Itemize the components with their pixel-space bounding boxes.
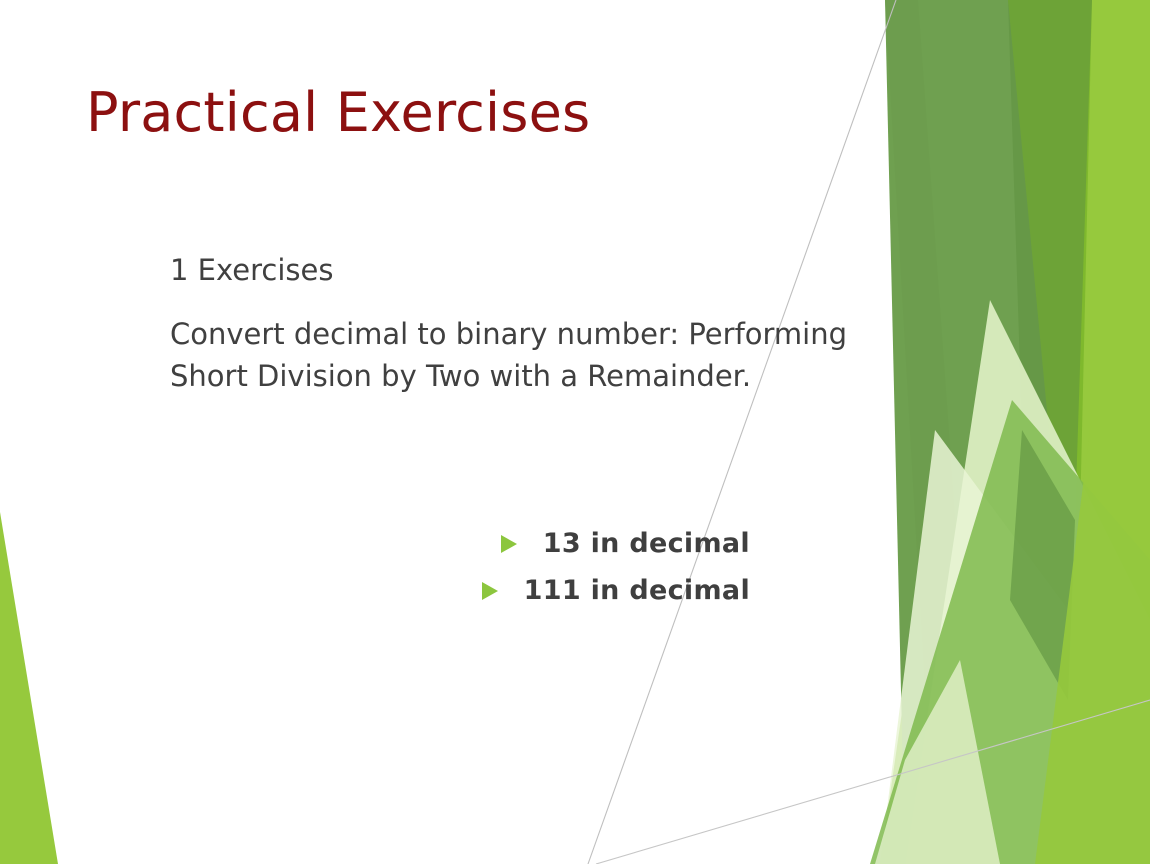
hairline-diagonal-lower [596, 700, 1150, 864]
decor-shape-bright-green [880, 0, 1092, 864]
slide-canvas: Practical Exercises 1 Exercises Convert … [0, 0, 1150, 864]
triangle-bullet-icon [497, 530, 521, 558]
decor-shape-medium-green [885, 0, 1090, 864]
decor-shape-lime-bottom [1035, 430, 1150, 864]
triangle-bullet-icon [478, 577, 502, 605]
decor-shape-pale-sliver [875, 660, 1000, 864]
slide-title: Practical Exercises [86, 82, 846, 144]
bullet-list: 13 in decimal 111 in decimal [330, 528, 750, 606]
list-item-label: 13 in decimal [543, 528, 750, 559]
list-item: 111 in decimal [478, 575, 750, 606]
decor-shape-pale-green [905, 300, 1150, 864]
list-item: 13 in decimal [497, 528, 750, 559]
decor-shape-pale-green-light [880, 430, 1150, 864]
decor-shape-lime-right [1040, 0, 1150, 864]
body-paragraph-2: Convert decimal to binary number: Perfor… [170, 314, 870, 398]
body-paragraph-1: 1 Exercises [170, 250, 870, 292]
decor-shape-green-descender [870, 400, 1150, 864]
decor-shape-medium-green-dark [885, 0, 980, 864]
list-item-label: 111 in decimal [524, 575, 750, 606]
decor-shape-left-wedge [0, 512, 58, 864]
body-text-block: 1 Exercises Convert decimal to binary nu… [170, 250, 870, 397]
decor-shape-deep-green [1008, 0, 1092, 520]
decor-shape-deep-green-lower [1010, 430, 1075, 700]
